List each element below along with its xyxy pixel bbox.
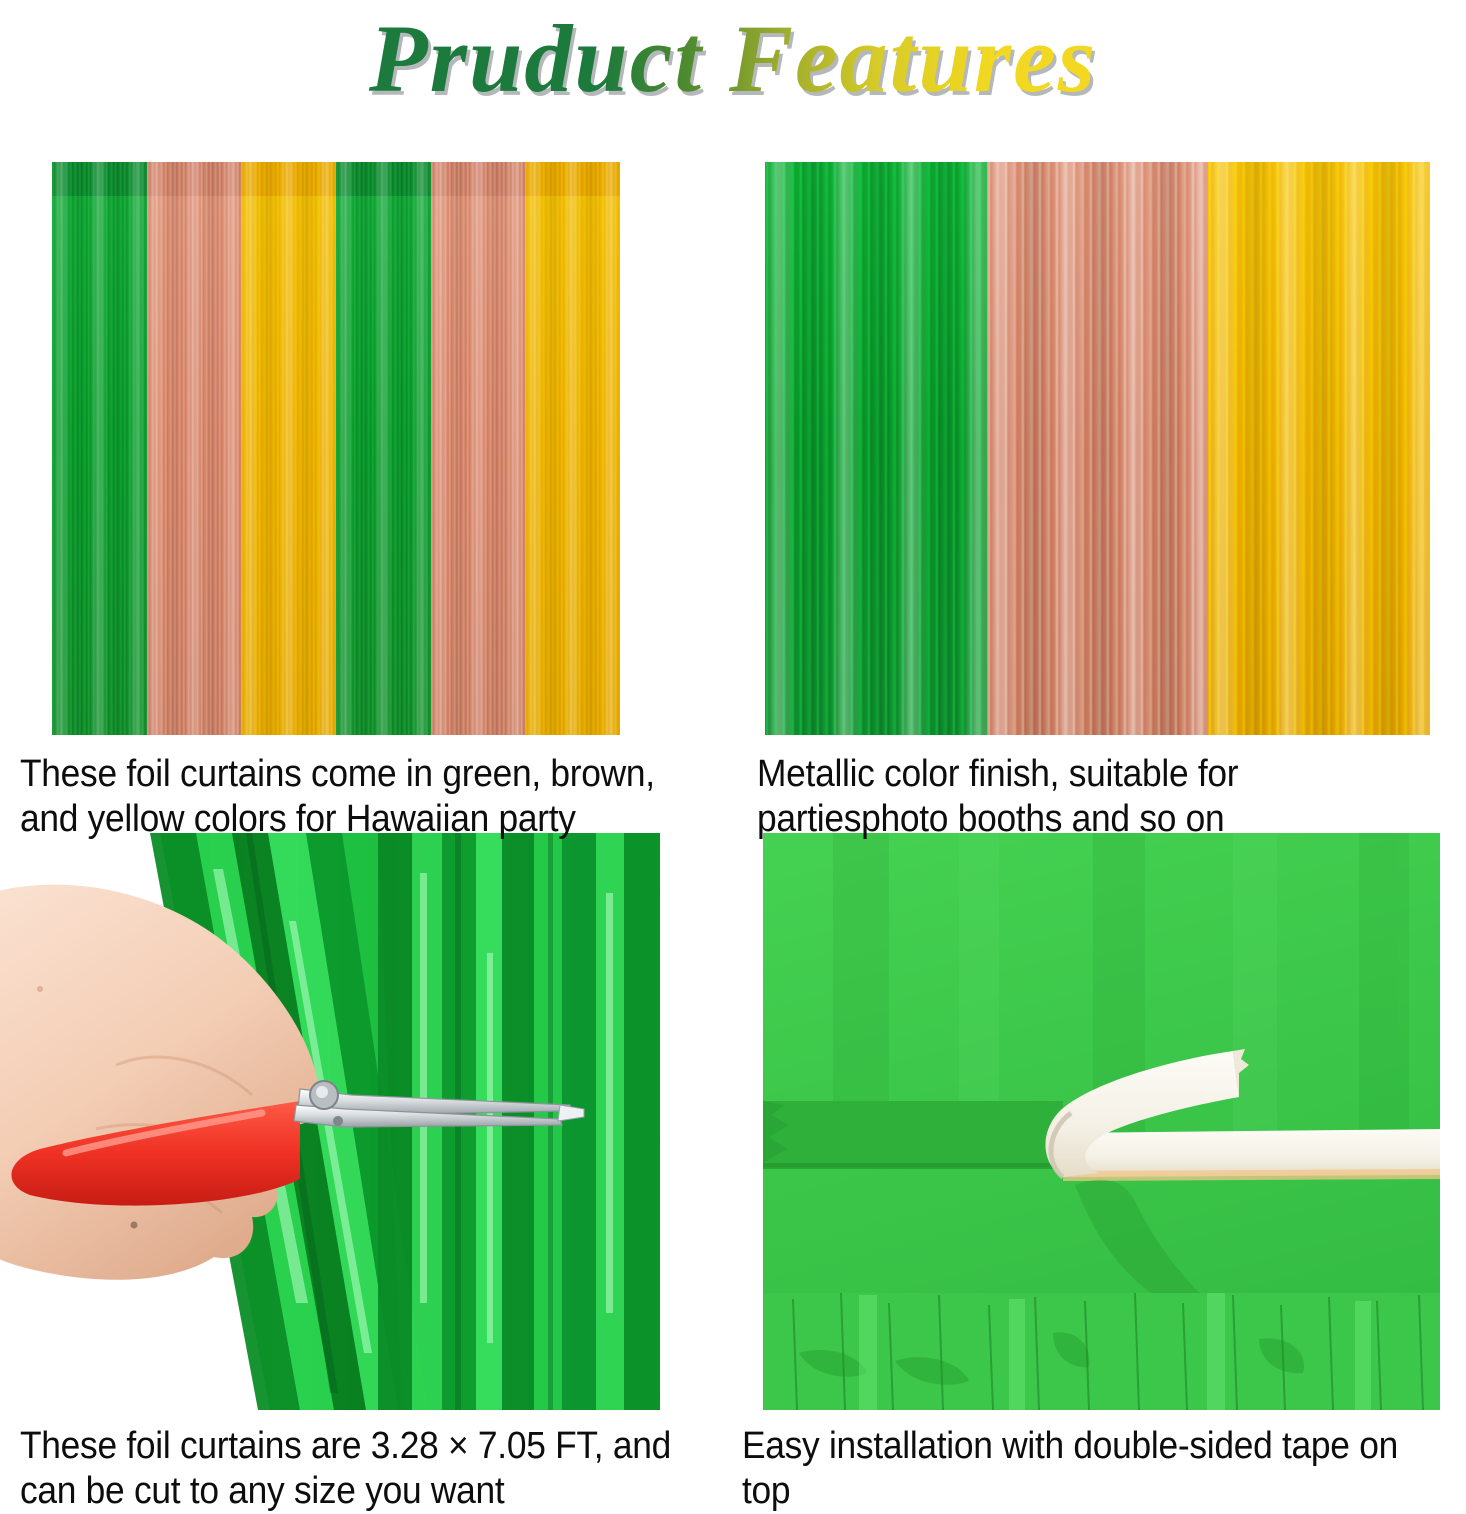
stripe-group	[765, 162, 1430, 735]
cut-to-size-illustration	[0, 833, 660, 1410]
cut-to-size-photo	[0, 833, 660, 1410]
page-title-bar: Pruduct Features	[0, 0, 1466, 118]
sheen-overlay	[525, 162, 620, 735]
page-title: Pruduct Features	[363, 11, 1103, 107]
foil-stripe-rose-gold	[431, 162, 526, 735]
foil-stripe-green	[336, 162, 431, 735]
foil-stripe-green	[765, 162, 987, 735]
caption-cut-to-size: These foil curtains are 3.28 × 7.05 FT, …	[20, 1424, 690, 1514]
caption-metallic-finish: Metallic color finish, suitable for part…	[757, 752, 1427, 842]
tape-install-illustration	[763, 833, 1440, 1410]
tape-install-photo	[763, 833, 1440, 1410]
foil-stripe-gold	[525, 162, 620, 735]
curtain-colors-photo	[52, 162, 620, 735]
foil-stripe-gold	[1208, 162, 1430, 735]
sheen-overlay	[336, 162, 431, 735]
sheen-overlay	[52, 162, 147, 735]
foil-stripe-rose-gold	[987, 162, 1209, 735]
caption-tape-install: Easy installation with double-sided tape…	[742, 1424, 1430, 1514]
sheen-overlay	[1208, 162, 1430, 735]
foil-stripe-green	[52, 162, 147, 735]
metallic-finish-photo	[765, 162, 1430, 735]
caption-curtain-colors: These foil curtains come in green, brown…	[20, 752, 690, 842]
sheen-overlay	[431, 162, 526, 735]
fringe-strands	[763, 1293, 1440, 1410]
sheen-overlay	[765, 162, 987, 735]
sheen-overlay	[987, 162, 1209, 735]
sheen-overlay	[241, 162, 336, 735]
stripe-group	[52, 162, 620, 735]
foil-stripe-gold	[241, 162, 336, 735]
sheen-overlay	[147, 162, 242, 735]
header-band	[763, 1101, 1063, 1167]
foil-stripe-rose-gold	[147, 162, 242, 735]
